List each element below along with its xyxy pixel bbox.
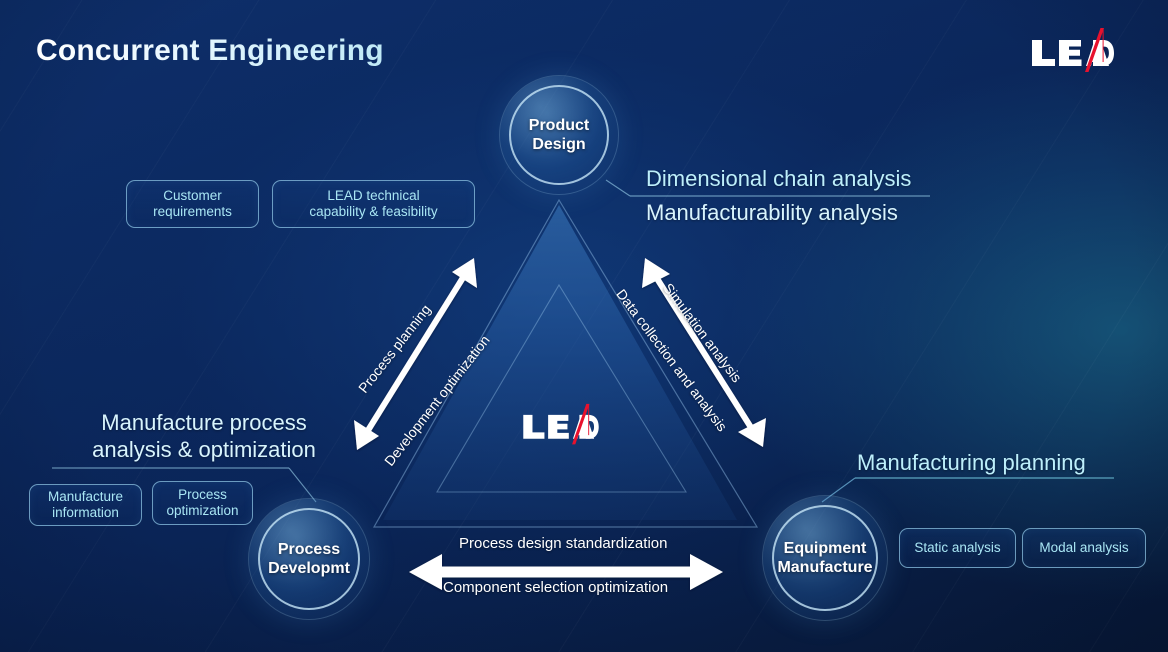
tag-line1: Manufacture — [48, 489, 123, 505]
callout-line1: Manufacture process — [54, 410, 354, 437]
page-title: Concurrent Engineering — [36, 34, 384, 68]
node-label-line1: Product — [529, 116, 589, 135]
leader-equipment-manufacture — [822, 478, 1114, 502]
slide-canvas: Concurrent Engineering — [0, 0, 1168, 652]
tag-line1: LEAD technical — [309, 188, 437, 204]
lead-wordmark-center-icon — [521, 402, 601, 448]
arrow-label-process-design-standardization: Process design standardization — [459, 535, 667, 552]
tag-customer-requirements[interactable]: Customer requirements — [126, 180, 259, 228]
arrow-label-component-selection-optimization: Component selection optimization — [443, 579, 668, 596]
callout-manufacturing-planning: Manufacturing planning — [857, 450, 1086, 477]
tag-lead-technical-capability[interactable]: LEAD technical capability & feasibility — [272, 180, 475, 228]
tag-line1: Static analysis — [914, 540, 1000, 556]
tag-line1: Modal analysis — [1039, 540, 1128, 556]
tag-text: Customer requirements — [153, 188, 232, 221]
tag-text: Process optimization — [166, 487, 238, 520]
node-product-design[interactable]: Product Design — [500, 76, 618, 194]
node-equipment-manufacture[interactable]: Equipment Manufacture — [763, 496, 887, 620]
tag-line2: requirements — [153, 204, 232, 220]
node-process-development-label: Process Developmt — [268, 540, 350, 578]
callout-dimensional-chain-analysis: Dimensional chain analysis — [646, 166, 911, 193]
tag-line2: optimization — [166, 503, 238, 519]
node-equipment-manufacture-label: Equipment Manufacture — [777, 539, 872, 577]
tag-line1: Process — [166, 487, 238, 503]
tag-static-analysis[interactable]: Static analysis — [899, 528, 1016, 568]
callout-manufacture-process-analysis: Manufacture process analysis & optimizat… — [54, 410, 354, 464]
node-label-line2: Design — [529, 135, 589, 154]
node-label-line2: Developmt — [268, 559, 350, 578]
tag-text: Manufacture information — [48, 489, 123, 522]
tag-text: LEAD technical capability & feasibility — [309, 188, 437, 221]
lead-logo-center — [521, 402, 601, 448]
tag-process-optimization[interactable]: Process optimization — [152, 481, 253, 525]
node-product-design-label: Product Design — [529, 116, 589, 154]
tag-line2: capability & feasibility — [309, 204, 437, 220]
node-process-development[interactable]: Process Developmt — [249, 499, 369, 619]
node-label-line1: Equipment — [777, 539, 872, 558]
callout-line2: analysis & optimization — [54, 437, 354, 464]
node-label-line1: Process — [268, 540, 350, 559]
tag-manufacture-information[interactable]: Manufacture information — [29, 484, 142, 526]
tag-line2: information — [48, 505, 123, 521]
callout-manufacturability-analysis: Manufacturability analysis — [646, 200, 898, 227]
tag-modal-analysis[interactable]: Modal analysis — [1022, 528, 1146, 568]
lead-logo-corner — [1030, 26, 1116, 76]
node-label-line2: Manufacture — [777, 558, 872, 577]
lead-wordmark-icon — [1030, 26, 1116, 76]
tag-line1: Customer — [153, 188, 232, 204]
